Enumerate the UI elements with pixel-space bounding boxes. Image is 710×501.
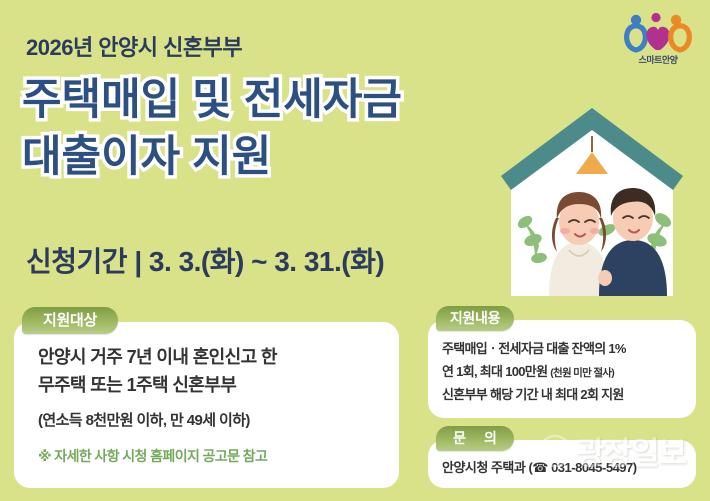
title-line-1: 주택매입 및 전세자금 bbox=[22, 72, 542, 129]
smart-anyang-logo: 스마트안양 bbox=[622, 12, 694, 74]
page-title: 주택매입 및 전세자금 대출이자 지원 bbox=[22, 72, 542, 186]
application-period: 신청기간 | 3. 3.(화) ~ 3. 31.(화) bbox=[26, 240, 384, 280]
badge-contact: 문 의 bbox=[436, 426, 514, 451]
content-line-2: 연 1회, 최대 100만원 (천원 미만 절사) bbox=[442, 361, 696, 384]
poster-canvas: 스마트안양 2026년 안양시 신혼부부 주택매입 및 전세자금 대출이자 지원… bbox=[0, 0, 710, 501]
badge-content: 지원내용 bbox=[436, 306, 514, 331]
contact-line: 안양시청 주택과 (☎ 031-8045-5497) bbox=[442, 457, 696, 476]
target-note: ※ 자세한 사항 시청 홈페이지 공고문 참고 bbox=[38, 446, 399, 466]
content-line-3: 신혼부부 해당 기간 내 최대 2회 지원 bbox=[442, 384, 696, 407]
logo-mark-icon bbox=[622, 12, 694, 54]
target-line-2: 무주택 또는 1주택 신혼부부 bbox=[38, 372, 399, 400]
target-line-1: 안양시 거주 7년 이내 혼인신고 한 bbox=[38, 344, 399, 372]
eyebrow-text: 2026년 안양시 신혼부부 bbox=[26, 30, 242, 62]
content-line-1: 주택매입ㆍ전세자금 대출 잔액의 1% bbox=[442, 338, 696, 361]
house-with-couple-illustration bbox=[487, 100, 697, 300]
card-support-content: 주택매입ㆍ전세자금 대출 잔액의 1% 연 1회, 최대 100만원 (천원 미… bbox=[428, 320, 696, 418]
logo-text: 스마트안양 bbox=[622, 53, 694, 66]
title-line-2: 대출이자 지원 bbox=[22, 129, 542, 186]
badge-target: 지원대상 bbox=[22, 307, 118, 334]
target-sub: (연소득 8천만원 이하, 만 49세 이하) bbox=[38, 409, 399, 430]
content-line-2-small: (천원 미만 절사) bbox=[550, 367, 614, 379]
content-line-2-main: 연 1회, 최대 100만원 bbox=[442, 364, 547, 379]
card-support-target: 안양시 거주 7년 이내 혼인신고 한 무주택 또는 1주택 신혼부부 (연소득… bbox=[14, 322, 399, 488]
